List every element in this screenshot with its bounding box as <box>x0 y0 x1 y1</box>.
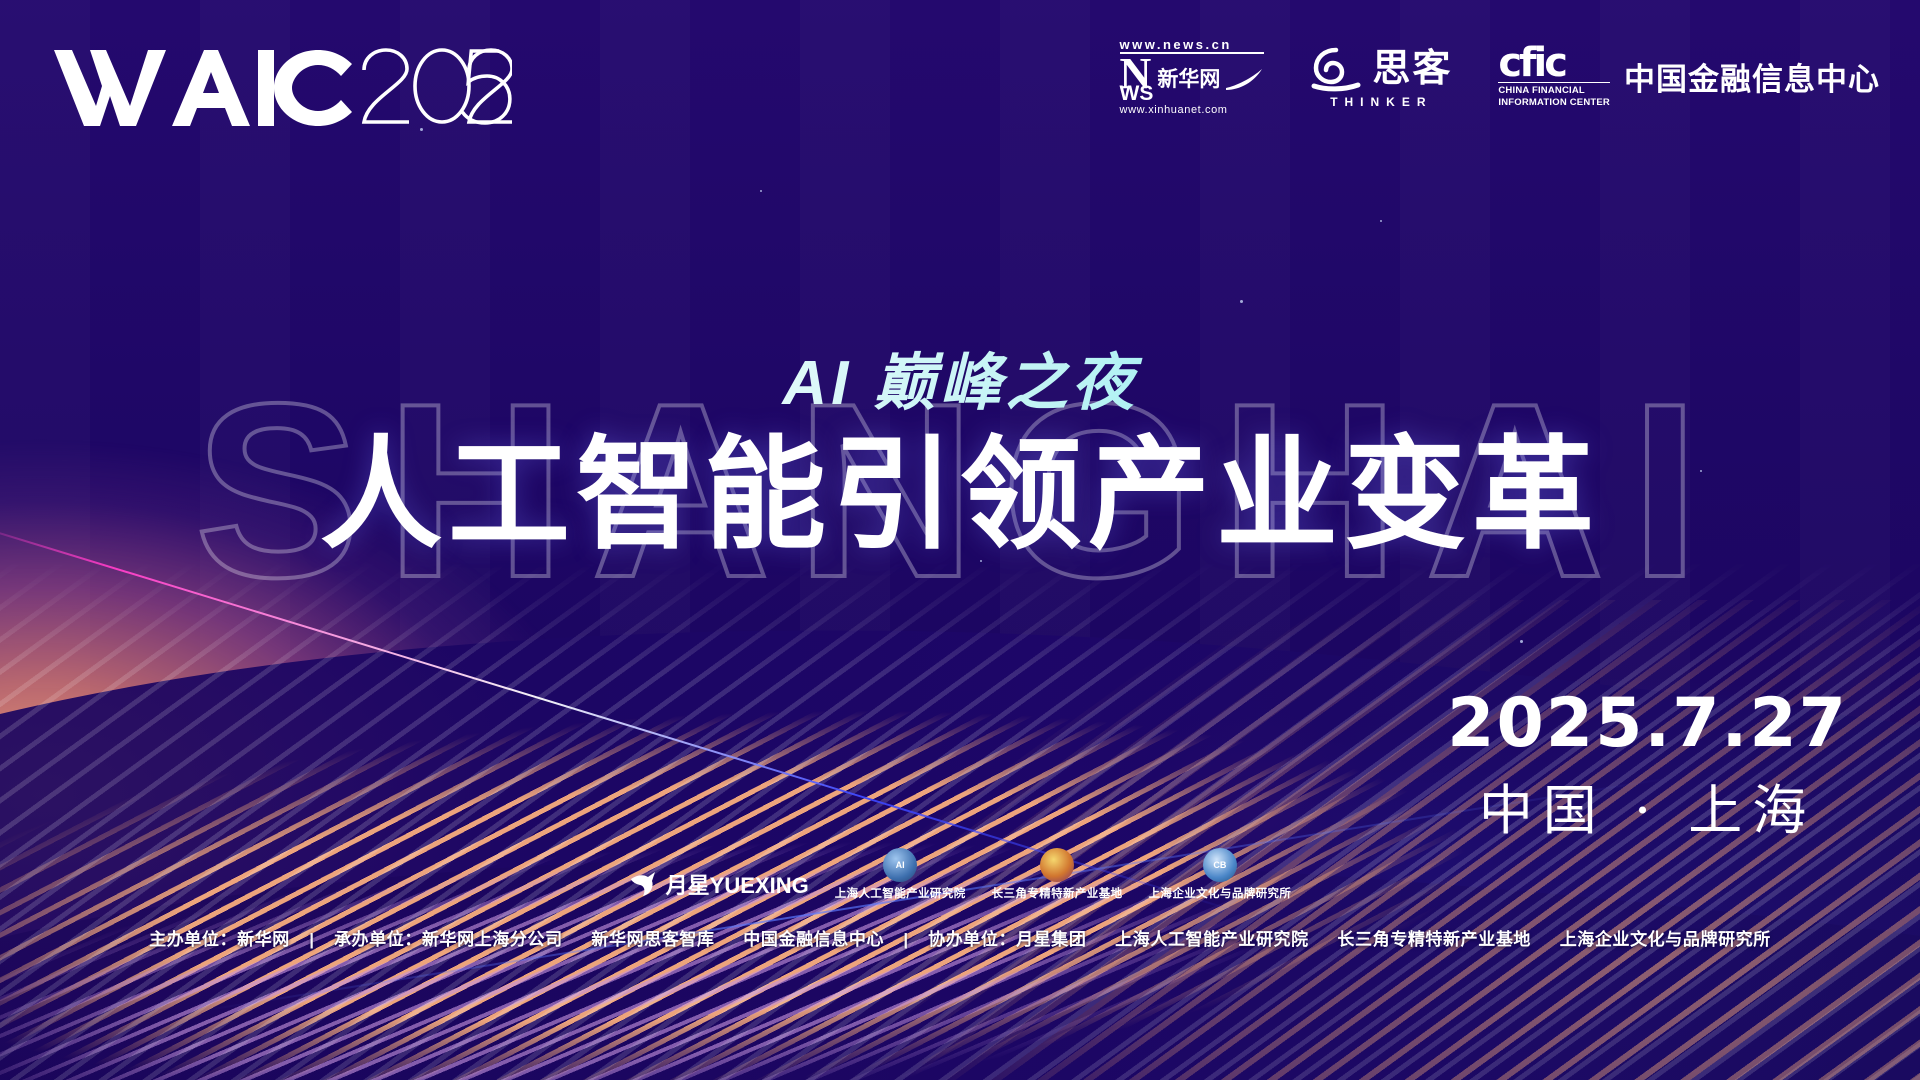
sparkle-dot <box>420 128 423 131</box>
cbi-badge-icon: CB <box>1203 848 1237 882</box>
xinhuanet-name-cn: 新华网 <box>1157 69 1220 90</box>
cfic-name-en-line1: CHINA FINANCIAL <box>1498 85 1585 96</box>
cfic-name-en: CHINA FINANCIAL INFORMATION CENTER <box>1498 82 1610 108</box>
waic-2025-logo <box>52 34 512 126</box>
poster-canvas: SHANGHAI www.news.cn <box>0 0 1920 1080</box>
footer-co-2: 上海人工智能产业研究院 <box>1115 925 1309 950</box>
footer-separator-1: | <box>295 930 328 950</box>
yuexing-wordmark: 月星YUEXING <box>666 868 809 900</box>
saii-badge-icon: AI <box>883 848 917 882</box>
sparkle-dot <box>1520 640 1523 643</box>
footer-credits: 主办单位：新华网 | 承办单位：新华网上海分公司 新华网思客智库 中国金融信息中… <box>0 925 1920 950</box>
footer-separator-2: | <box>889 930 922 950</box>
footer-host-3: 中国金融信息中心 <box>743 925 884 950</box>
yrd-base-badge-icon <box>1040 848 1074 882</box>
xinhuanet-swoosh-icon <box>1224 66 1264 92</box>
sparkle-dot <box>760 190 762 192</box>
partner-logo-xinhuanet: www.news.cn N WS 新华网 www.xinhuanet.com <box>1120 38 1265 116</box>
partner-logo-group: www.news.cn N WS 新华网 www.xinhuanet.com <box>1120 38 1880 116</box>
thinker-spiral-icon <box>1310 44 1362 92</box>
saii-name: 上海人工智能产业研究院 <box>835 885 966 901</box>
footer-co-4: 上海企业文化与品牌研究所 <box>1560 925 1771 950</box>
footer-coorganizer: 协办单位：月星集团 <box>928 925 1086 950</box>
sparkle-dot <box>1240 300 1243 303</box>
yrd-base-name: 长三角专精特新产业基地 <box>992 885 1123 901</box>
sponsor-yuexing: 月星YUEXING <box>629 868 809 901</box>
footer-host-2: 新华网思客智库 <box>591 925 714 950</box>
magenta-glow <box>1080 660 1440 960</box>
sponsor-cbi: CB 上海企业文化与品牌研究所 <box>1149 848 1292 901</box>
thinker-name-en: THINKER <box>1330 95 1432 109</box>
event-date: 2025.7.27 <box>1447 690 1848 758</box>
partner-logo-cfic: cfic CHINA FINANCIAL INFORMATION CENTER … <box>1498 45 1880 108</box>
footer-co-3: 长三角专精特新产业基地 <box>1337 925 1531 950</box>
event-info-block: 2025.7.27 中国 · 上海 <box>1447 690 1848 838</box>
saii-badge-label: AI <box>896 860 905 870</box>
cbi-badge-label: CB <box>1213 860 1226 870</box>
event-location: 中国 · 上海 <box>1447 784 1848 838</box>
sparkle-dot <box>1380 220 1382 222</box>
xinhuanet-url-bottom: www.xinhuanet.com <box>1120 104 1228 116</box>
hero-headline: 人工智能引领产业变革 <box>0 428 1920 562</box>
partner-logo-thinker: 思客 THINKER <box>1310 44 1452 109</box>
footer-organizer: 主办单位：新华网 <box>149 925 290 950</box>
xinhuanet-ws-mark: WS <box>1120 85 1154 104</box>
cfic-wordmark: cfic <box>1498 45 1565 81</box>
sponsor-logo-strip: 月星YUEXING AI 上海人工智能产业研究院 长三角专精特新产业基地 CB … <box>0 848 1920 901</box>
hero-subtitle: AI 巅峰之夜 <box>0 332 1920 422</box>
thinker-name-cn: 思客 <box>1372 49 1452 87</box>
striped-ribbon-violet <box>0 755 1372 1080</box>
cbi-name: 上海企业文化与品牌研究所 <box>1149 885 1292 901</box>
cfic-name-en-line2: INFORMATION CENTER <box>1498 97 1610 108</box>
footer-host: 承办单位：新华网上海分公司 <box>334 925 563 950</box>
sponsor-saii: AI 上海人工智能产业研究院 <box>835 848 966 901</box>
yuexing-bird-icon <box>629 870 659 898</box>
sponsor-yrd-base: 长三角专精特新产业基地 <box>992 848 1123 901</box>
cfic-name-cn: 中国金融信息中心 <box>1624 54 1880 99</box>
